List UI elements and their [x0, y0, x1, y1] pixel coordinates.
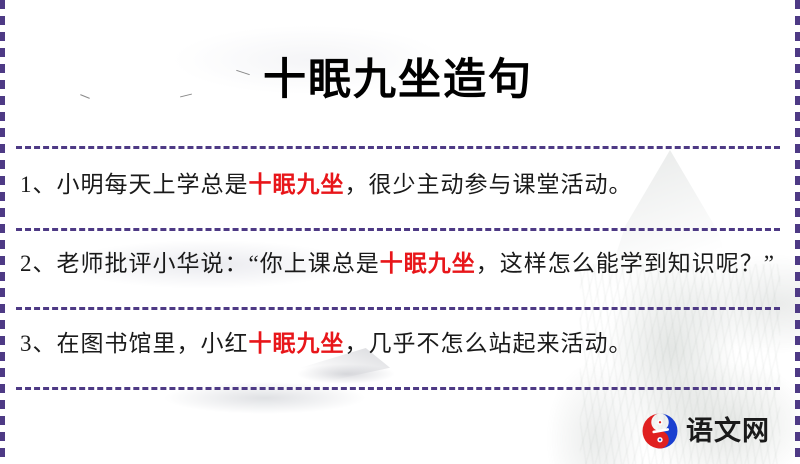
- right-dashed-border: [795, 0, 800, 464]
- sentence-3-before: 3、在图书馆里，小红: [20, 331, 249, 356]
- sentence-1-before: 1、小明每天上学总是: [20, 172, 249, 197]
- site-logo-text: 语文网: [686, 418, 770, 445]
- example-sentence-3: 3、在图书馆里，小红十眠九坐，几乎不怎么站起来活动。: [14, 324, 782, 364]
- sentence-3-keyword: 十眠九坐: [249, 331, 345, 356]
- divider-4: [16, 387, 780, 390]
- divider-1: [16, 146, 780, 149]
- divider-3: [16, 307, 780, 310]
- left-dashed-border: [0, 0, 5, 464]
- example-sentence-1: 1、小明每天上学总是十眠九坐，很少主动参与课堂活动。: [14, 165, 782, 205]
- divider-2: [16, 228, 780, 231]
- sentence-2-before: 2、老师批评小华说：“你上课总是: [20, 251, 380, 276]
- sentence-1-keyword: 十眠九坐: [249, 172, 345, 197]
- site-logo: 语文网: [641, 412, 770, 450]
- sentence-2-keyword: 十眠九坐: [380, 251, 476, 276]
- sentence-1-after: ，很少主动参与课堂活动。: [345, 172, 633, 197]
- example-sentence-2: 2、老师批评小华说：“你上课总是十眠九坐，这样怎么能学到知识呢？”: [14, 244, 782, 284]
- slide-page: 十眠九坐造句 1、小明每天上学总是十眠九坐，很少主动参与课堂活动。 2、老师批评…: [0, 0, 800, 464]
- content-area: 十眠九坐造句 1、小明每天上学总是十眠九坐，很少主动参与课堂活动。 2、老师批评…: [0, 29, 800, 464]
- sentence-2-after: ，这样怎么能学到知识呢？”: [476, 251, 775, 276]
- page-title: 十眠九坐造句: [14, 29, 782, 117]
- sentence-3-after: ，几乎不怎么站起来活动。: [345, 331, 633, 356]
- yinyang-fish-logo-icon: [641, 412, 679, 450]
